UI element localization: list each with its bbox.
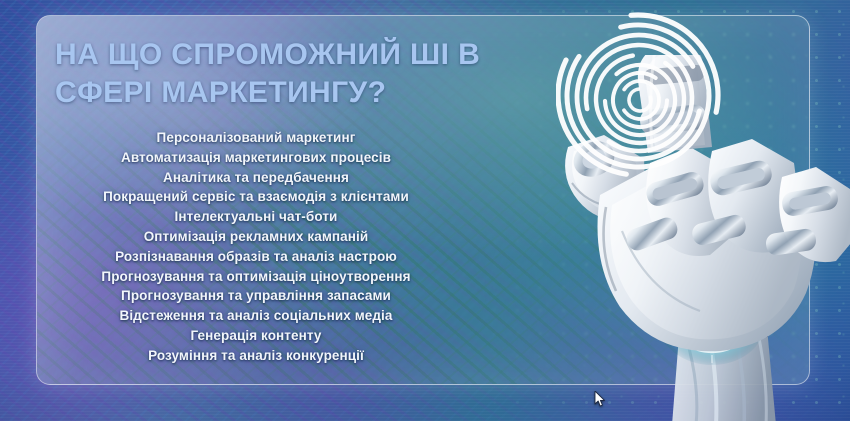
title-line-1: НА ЩО СПРОМОЖНИЙ ШІ В <box>55 36 575 74</box>
list-item: Прогнозування та управління запасами <box>40 286 472 306</box>
list-item: Аналітика та передбачення <box>40 168 472 188</box>
page-title: НА ЩО СПРОМОЖНИЙ ШІ В СФЕРІ МАРКЕТИНГУ? <box>55 36 575 112</box>
list-item: Відстеження та аналіз соціальних медіа <box>40 306 472 326</box>
slide-canvas: НА ЩО СПРОМОЖНИЙ ШІ В СФЕРІ МАРКЕТИНГУ? … <box>0 0 850 421</box>
list-item: Інтелектуальні чат-боти <box>40 207 472 227</box>
list-item: Прогнозування та оптимізація ціноутворен… <box>40 267 472 287</box>
list-item: Розуміння та аналіз конкуренції <box>40 346 472 366</box>
list-item: Генерація контенту <box>40 326 472 346</box>
title-line-2: СФЕРІ МАРКЕТИНГУ? <box>55 74 575 112</box>
list-item: Персоналізований маркетинг <box>40 128 472 148</box>
capabilities-list: Персоналізований маркетинг Автоматизація… <box>40 128 472 366</box>
list-item: Розпізнавання образів та аналіз настрою <box>40 247 472 267</box>
list-item: Оптимізація рекламних кампаній <box>40 227 472 247</box>
list-item: Автоматизація маркетингових процесів <box>40 148 472 168</box>
list-item: Покращений сервіс та взаємодія з клієнта… <box>40 187 472 207</box>
